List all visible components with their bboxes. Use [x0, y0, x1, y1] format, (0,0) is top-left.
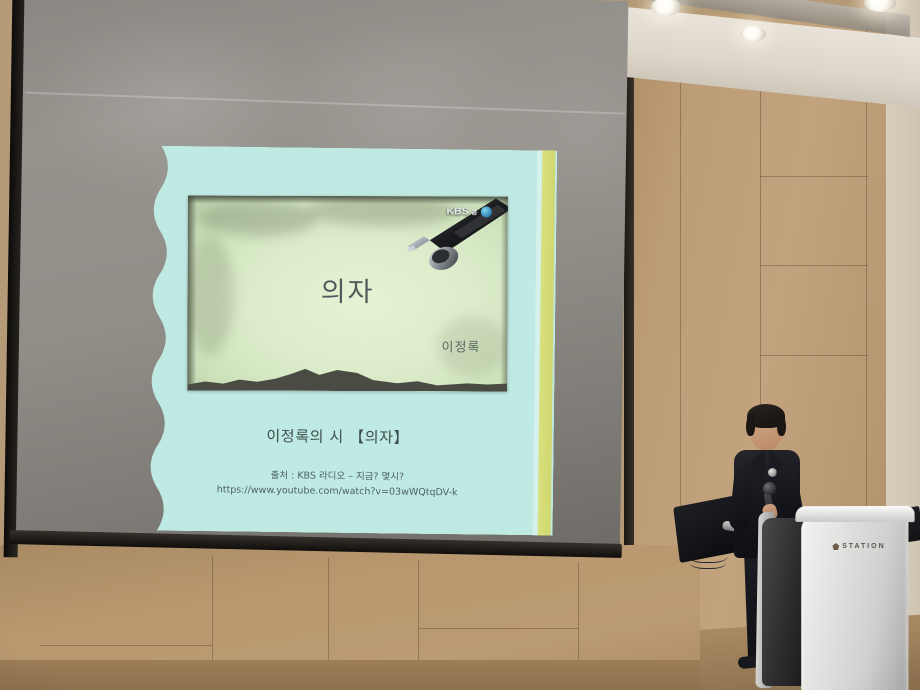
kbs-logo: KBS콩	[447, 206, 492, 217]
podium	[801, 512, 908, 690]
microphone-head-icon	[763, 482, 776, 495]
kbs-logo-text: KBS	[447, 206, 469, 217]
slide-source: 출처 : KBS 라디오 – 지금? 몇시? https://www.youtu…	[135, 467, 539, 501]
panel-seam	[40, 645, 212, 646]
presentation-photo-scene: KBS콩 의자 이정록 이정록의 시 【의자】 출처 : KBS 라디오 – 지…	[0, 0, 920, 690]
podium-dark-panel	[762, 518, 806, 686]
panel-seam	[760, 265, 868, 266]
projected-slide: KBS콩 의자 이정록 이정록의 시 【의자】 출처 : KBS 라디오 – 지…	[135, 145, 558, 535]
fountain-pen-image: KBS콩	[394, 195, 508, 278]
podium-brand: STATION	[832, 543, 885, 550]
panel-seam	[418, 628, 578, 629]
panel-seam	[760, 355, 868, 356]
kbs-logo-sub: 콩	[471, 207, 478, 217]
panel-seam	[760, 176, 868, 177]
downlight-icon	[740, 26, 766, 42]
glasses-icon	[751, 424, 781, 432]
podium-top-surface	[795, 506, 914, 522]
poem-author: 이정록	[441, 336, 480, 355]
station-logo-icon	[832, 543, 839, 550]
poem-title: 의자	[188, 269, 508, 309]
photo-torn-bottom-edge	[187, 360, 507, 391]
cable	[690, 554, 726, 569]
slide-photo: KBS콩 의자 이정록	[187, 195, 508, 391]
kbs-dot-icon	[481, 206, 492, 217]
podium-brand-text: STATION	[842, 543, 885, 550]
paper-stain	[198, 201, 318, 235]
